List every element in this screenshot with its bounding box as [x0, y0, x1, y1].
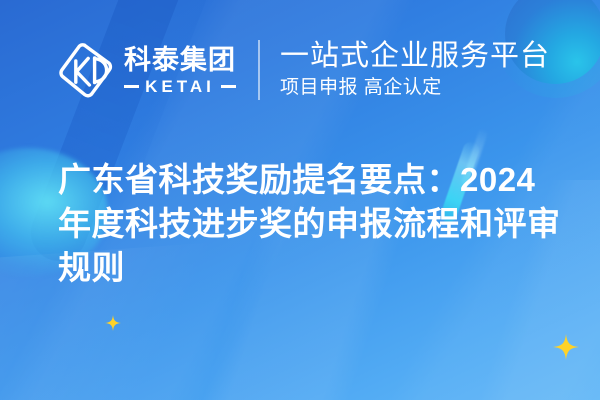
- sparkle-large-icon: [553, 334, 579, 360]
- brand-wordmark: 科泰集团 KETAI: [124, 45, 236, 96]
- header-tagline: 一站式企业服务平台 项目申报 高企认定: [280, 39, 550, 101]
- brand-name-cn: 科泰集团: [124, 45, 236, 75]
- wordmark-dash-left-icon: [124, 85, 139, 88]
- brand-name-en: KETAI: [139, 78, 221, 96]
- banner-header: 科泰集团 KETAI 一站式企业服务平台 项目申报 高企认定: [0, 0, 600, 140]
- brand-name-en-row: KETAI: [124, 78, 236, 96]
- wordmark-dash-right-icon: [221, 85, 236, 88]
- tagline-secondary: 项目申报 高企认定: [280, 75, 550, 101]
- sparkle-small-icon: [105, 315, 121, 331]
- tagline-primary: 一站式企业服务平台: [280, 39, 550, 73]
- header-divider: [258, 40, 260, 100]
- title-block: 广东省科技奖励提名要点：2024年度科技进步奖的申报流程和评审规则: [58, 158, 566, 290]
- promo-banner: 科泰集团 KETAI 一站式企业服务平台 项目申报 高企认定 广东省科技奖励提名…: [0, 0, 600, 400]
- brand-logo[interactable]: 科泰集团 KETAI: [58, 41, 236, 99]
- ketai-monogram-logo-icon: [58, 41, 114, 99]
- page-title: 广东省科技奖励提名要点：2024年度科技进步奖的申报流程和评审规则: [58, 158, 566, 290]
